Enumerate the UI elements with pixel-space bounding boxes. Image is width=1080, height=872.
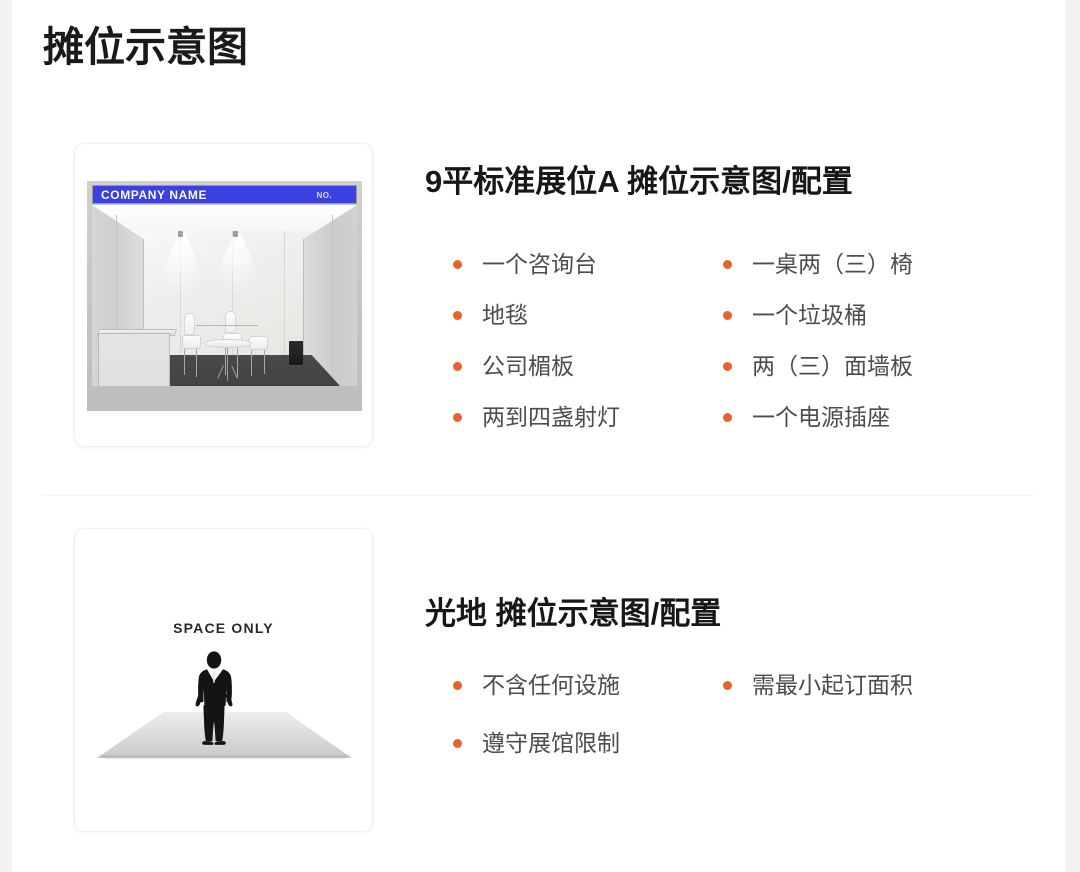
fascia-booth-number-label: NO. xyxy=(317,191,332,200)
feature-item: 一个电源插座 xyxy=(695,392,965,443)
space-only-label: SPACE ONLY xyxy=(75,620,372,636)
feature-list-space-only: 不含任何设施 需最小起订面积 遵守展馆限制 xyxy=(425,656,1045,772)
bullet-icon xyxy=(723,311,732,320)
feature-item: 一桌两（三）椅 xyxy=(695,239,965,290)
feature-item: 遵守展馆限制 xyxy=(425,714,695,772)
bullet-icon xyxy=(723,413,732,422)
feature-item: 两（三）面墙板 xyxy=(695,341,965,392)
section-heading-space-only: 光地 摊位示意图/配置 xyxy=(425,588,721,633)
space-only-render-image: SPACE ONLY xyxy=(75,529,372,831)
feature-item: 公司楣板 xyxy=(425,341,695,392)
section-divider xyxy=(43,495,1033,496)
feature-label: 一个咨询台 xyxy=(482,253,597,276)
bullet-icon xyxy=(723,260,732,269)
spotlight-beam xyxy=(152,233,212,293)
feature-item: 两到四盏射灯 xyxy=(425,392,695,443)
section-heading-standard: 9平标准展位A 摊位示意图/配置 xyxy=(425,156,853,201)
feature-item: 一个垃圾桶 xyxy=(695,290,965,341)
bullet-icon xyxy=(453,681,462,690)
feature-list-standard: 一个咨询台 一桌两（三）椅 地毯 一个垃圾桶 公司楣板 两（三）面墙板 xyxy=(425,239,1045,443)
booth-image-card[interactable]: COMPANY NAME NO. xyxy=(74,143,373,447)
chair xyxy=(182,335,201,349)
feature-item: 地毯 xyxy=(425,290,695,341)
table-leg xyxy=(227,348,228,381)
feature-label: 一个电源插座 xyxy=(752,406,890,429)
chair-leg xyxy=(196,349,197,377)
feature-label: 遵守展馆限制 xyxy=(482,732,620,755)
space-only-image-card[interactable]: SPACE ONLY xyxy=(74,528,373,832)
feature-label: 公司楣板 xyxy=(482,355,574,378)
bullet-icon xyxy=(453,739,462,748)
bullet-icon xyxy=(453,362,462,371)
feature-item: 需最小起订面积 xyxy=(695,656,965,714)
bullet-icon xyxy=(723,362,732,371)
fascia-company-name: COMPANY NAME xyxy=(101,188,207,202)
platform-shadow xyxy=(97,755,352,760)
businessman-silhouette xyxy=(190,651,238,751)
reception-counter xyxy=(98,333,170,386)
chair-leg xyxy=(251,350,252,376)
feature-label: 不含任何设施 xyxy=(482,674,620,697)
table-frame xyxy=(196,325,258,326)
space-only-illustration: SPACE ONLY xyxy=(75,529,372,831)
bullet-icon xyxy=(723,681,732,690)
chair-leg xyxy=(264,350,265,374)
feature-label: 两（三）面墙板 xyxy=(752,355,913,378)
booth-fascia-board: COMPANY NAME NO. xyxy=(92,185,357,204)
feature-item: 不含任何设施 xyxy=(425,656,695,714)
page-content-card: 摊位示意图 xyxy=(12,0,1065,872)
chair-leg xyxy=(184,349,185,375)
bullet-icon xyxy=(453,311,462,320)
chair-leg xyxy=(237,347,238,377)
spotlight-fixture xyxy=(178,231,183,237)
booth-ceiling xyxy=(92,205,357,231)
spotlight-beam xyxy=(207,233,267,293)
booth-interior xyxy=(92,205,357,386)
feature-label: 需最小起订面积 xyxy=(752,674,913,697)
booth-illustration: COMPANY NAME NO. xyxy=(87,181,362,411)
feature-label: 两到四盏射灯 xyxy=(482,406,620,429)
trash-bin xyxy=(289,341,303,365)
meeting-table xyxy=(204,339,252,348)
page-title: 摊位示意图 xyxy=(43,24,248,71)
spotlight-fixture xyxy=(233,231,238,237)
feature-label: 一桌两（三）椅 xyxy=(752,253,913,276)
chair-leg xyxy=(225,347,226,375)
feature-item: 一个咨询台 xyxy=(425,239,695,290)
panel-seam xyxy=(332,215,333,386)
chair-backrest xyxy=(225,311,236,333)
wall-seam xyxy=(284,231,285,355)
booth-render-image: COMPANY NAME NO. xyxy=(75,144,372,446)
bullet-icon xyxy=(453,413,462,422)
bullet-icon xyxy=(453,260,462,269)
feature-label: 一个垃圾桶 xyxy=(752,304,867,327)
feature-label: 地毯 xyxy=(482,304,528,327)
chair-backrest xyxy=(184,313,195,335)
